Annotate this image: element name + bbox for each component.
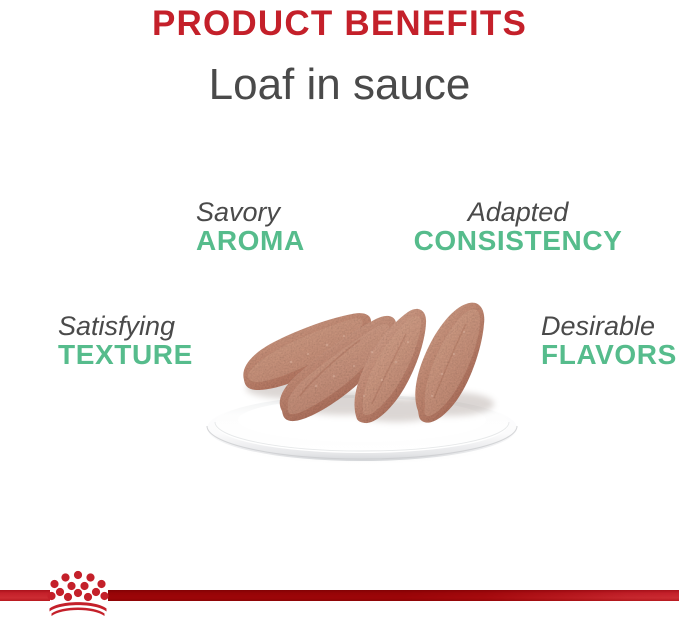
footer-bar-right [108, 590, 679, 601]
page-title: PRODUCT BENEFITS [0, 0, 679, 44]
benefit-adjective: Adapted [406, 198, 630, 226]
royal-canin-crown-icon [44, 567, 112, 617]
benefit-item-texture: Satisfying TEXTURE [58, 312, 193, 369]
benefit-noun: FLAVORS [541, 340, 677, 369]
product-photo [196, 270, 526, 475]
benefit-item-flavors: Desirable FLAVORS [541, 312, 677, 369]
footer-bar-left [0, 590, 50, 601]
header-block: PRODUCT BENEFITS Loaf in sauce [0, 0, 679, 109]
benefit-item-consistency: Adapted CONSISTENCY [406, 198, 630, 255]
benefit-item-aroma: Savory AROMA [196, 198, 305, 255]
page-subtitle: Loaf in sauce [0, 44, 679, 109]
benefit-adjective: Savory [196, 198, 305, 226]
benefit-noun: AROMA [196, 226, 305, 255]
product-benefits-infographic: PRODUCT BENEFITS Loaf in sauce Savory AR… [0, 0, 679, 620]
benefit-adjective: Satisfying [58, 312, 193, 340]
benefit-noun: CONSISTENCY [406, 226, 630, 255]
benefit-noun: TEXTURE [58, 340, 193, 369]
benefit-adjective: Desirable [541, 312, 677, 340]
